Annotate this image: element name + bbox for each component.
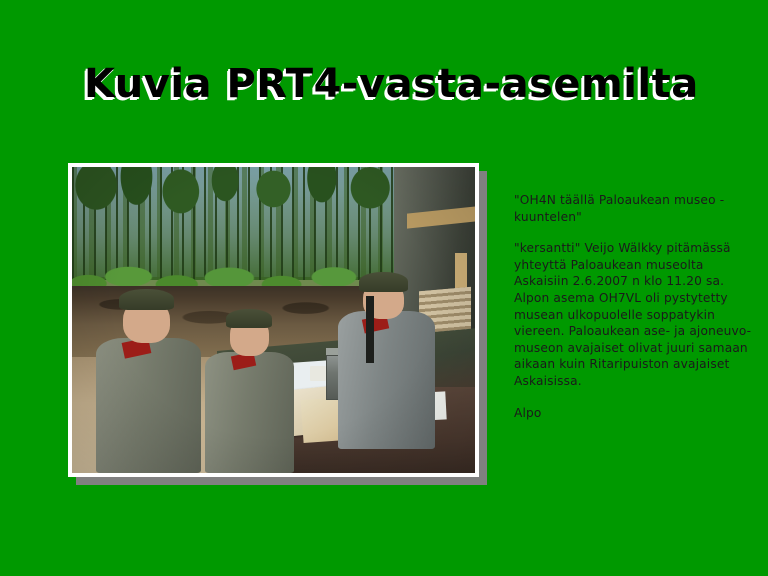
page-title: Kuvia PRT4-vasta-asemilta <box>84 58 724 114</box>
slide-photograph <box>72 167 475 473</box>
photo-frame[interactable] <box>68 163 479 477</box>
caption-text-block: "OH4N täällä Paloaukean museo -kuuntelen… <box>514 192 760 421</box>
caption-signature: Alpo <box>514 405 760 422</box>
caption-paragraph-1: "OH4N täällä Paloaukean museo -kuuntelen… <box>514 192 760 225</box>
caption-paragraph-2: "kersantti" Veijo Wälkky pitämässä yhtey… <box>514 240 760 389</box>
presentation-slide: Kuvia PRT4-vasta-asemilta <box>0 0 768 576</box>
photo-vignette <box>72 167 475 473</box>
